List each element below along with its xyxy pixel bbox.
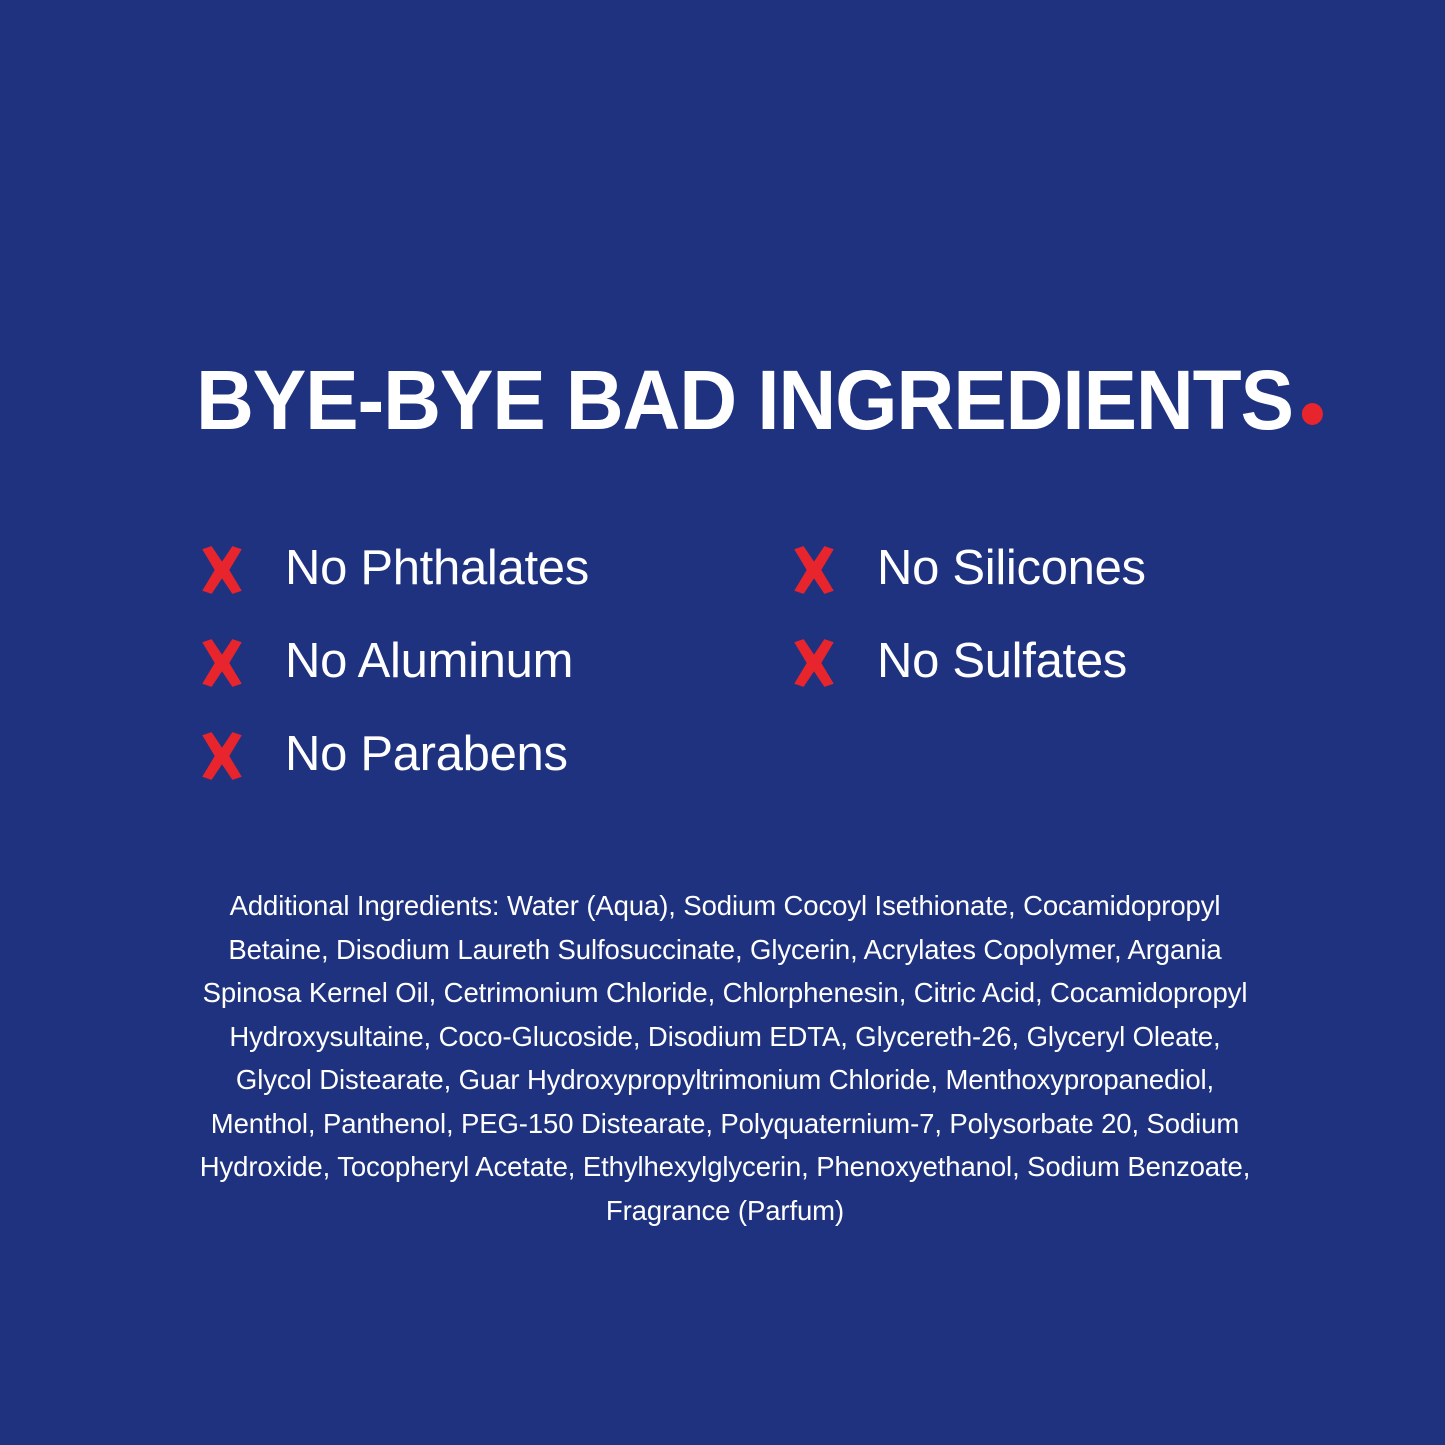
claim-label: No Aluminum — [285, 637, 573, 686]
claim-label: No Phthalates — [285, 544, 589, 593]
claims-grid: No Phthalates No Silicones No Aluminum — [196, 524, 1256, 803]
claim-label: No Sulfates — [877, 637, 1127, 686]
claim-item-no-phthalates: No Phthalates — [196, 524, 788, 617]
additional-ingredients-text: Additional Ingredients: Water (Aqua), So… — [145, 884, 1305, 1232]
ingredients-line: Betaine, Disodium Laureth Sulfosuccinate… — [145, 928, 1305, 972]
claim-label: No Parabens — [285, 730, 568, 779]
product-claims-panel: BYE-BYE BAD INGREDIENTS No Phthalates No… — [0, 0, 1445, 1445]
ingredients-line: Menthol, Panthenol, PEG-150 Distearate, … — [145, 1102, 1305, 1146]
ingredients-line: Hydroxysultaine, Coco-Glucoside, Disodiu… — [145, 1015, 1305, 1059]
ingredients-line: Spinosa Kernel Oil, Cetrimonium Chloride… — [145, 971, 1305, 1015]
claim-item-no-sulfates: No Sulfates — [788, 617, 1256, 710]
claim-item-no-parabens: No Parabens — [196, 710, 788, 803]
claim-item-no-aluminum: No Aluminum — [196, 617, 788, 710]
ingredients-line: Glycol Distearate, Guar Hydroxypropyltri… — [145, 1058, 1305, 1102]
claim-label: No Silicones — [877, 544, 1146, 593]
red-x-icon — [788, 637, 844, 689]
ingredients-line: Additional Ingredients: Water (Aqua), So… — [145, 884, 1305, 928]
page-title: BYE-BYE BAD INGREDIENTS — [196, 352, 1296, 438]
ingredients-line: Fragrance (Parfum) — [145, 1189, 1305, 1233]
page-title-label: BYE-BYE BAD INGREDIENTS — [196, 353, 1293, 447]
red-x-icon — [196, 730, 252, 782]
red-x-icon — [788, 544, 844, 596]
claim-item-no-silicones: No Silicones — [788, 524, 1256, 617]
red-x-icon — [196, 544, 252, 596]
red-x-icon — [196, 637, 252, 689]
title-red-dot-icon — [1301, 403, 1322, 425]
ingredients-line: Hydroxide, Tocopheryl Acetate, Ethylhexy… — [145, 1145, 1305, 1189]
page-title-text: BYE-BYE BAD INGREDIENTS — [196, 364, 1322, 438]
